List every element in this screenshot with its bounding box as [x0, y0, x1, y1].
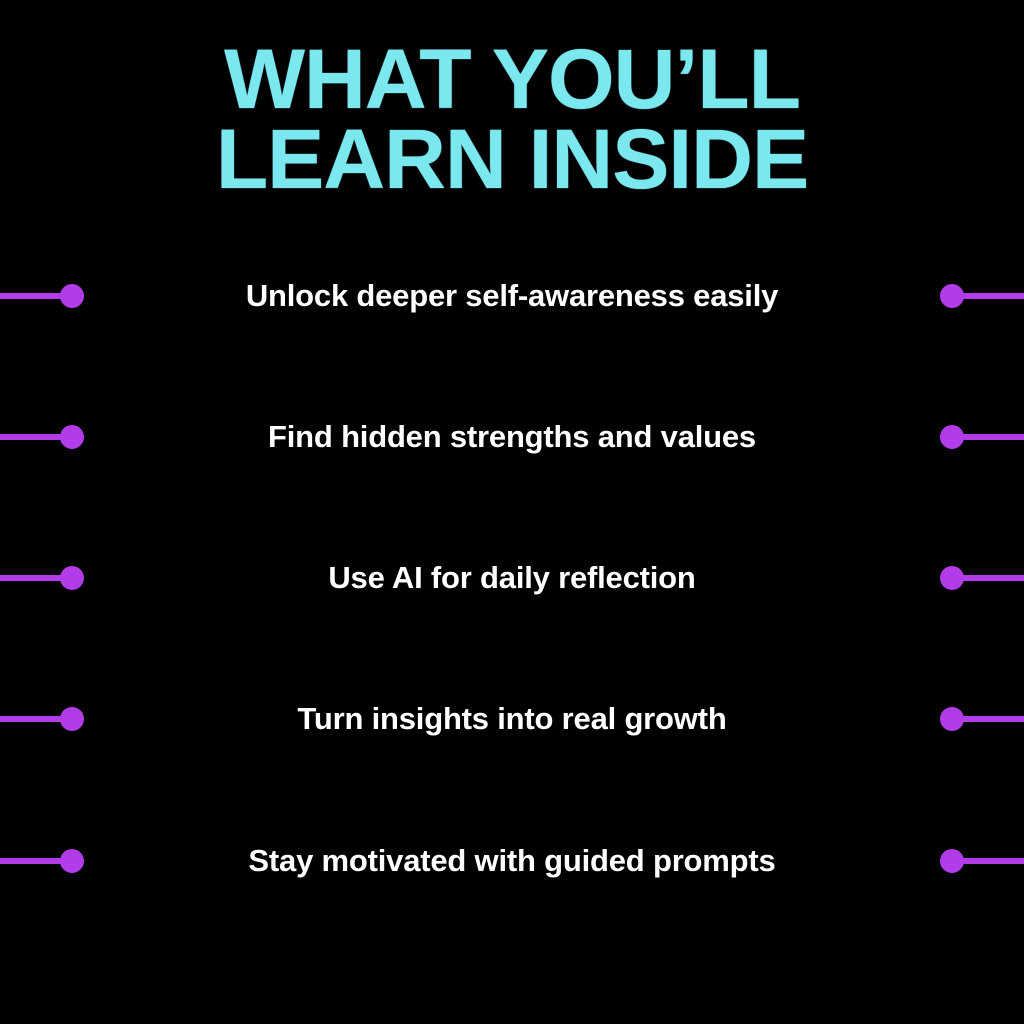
marker-dot [940, 425, 964, 449]
line-dot-marker-icon-left-3 [0, 566, 84, 590]
benefit-label-4: Turn insights into real growth [0, 701, 1024, 737]
list-item: Turn insights into real growth [0, 689, 1024, 749]
marker-line [0, 434, 62, 440]
slide-canvas: WHAT YOU’LL LEARN INSIDE Unlock deeper s… [0, 0, 1024, 1024]
marker-dot [60, 707, 84, 731]
line-dot-marker-icon-left-4 [0, 707, 84, 731]
line-dot-marker-icon-left-1 [0, 284, 84, 308]
marker-line [962, 575, 1024, 581]
marker-dot [940, 284, 964, 308]
page-title-line-2: LEARN INSIDE [0, 120, 1024, 200]
page-title: WHAT YOU’LL LEARN INSIDE [0, 40, 1024, 200]
benefit-label-5: Stay motivated with guided prompts [0, 843, 1024, 879]
line-dot-marker-icon-right-3 [940, 566, 1024, 590]
list-item: Find hidden strengths and values [0, 407, 1024, 467]
list-item: Use AI for daily reflection [0, 548, 1024, 608]
benefit-label-2: Find hidden strengths and values [0, 419, 1024, 455]
line-dot-marker-icon-right-4 [940, 707, 1024, 731]
marker-dot [940, 707, 964, 731]
marker-dot [60, 849, 84, 873]
line-dot-marker-icon-right-2 [940, 425, 1024, 449]
marker-line [0, 293, 62, 299]
marker-dot [60, 425, 84, 449]
marker-dot [940, 849, 964, 873]
marker-dot [60, 566, 84, 590]
benefits-list: Unlock deeper self-awareness easily Find… [0, 226, 1024, 932]
line-dot-marker-icon-left-5 [0, 849, 84, 873]
benefit-label-3: Use AI for daily reflection [0, 560, 1024, 596]
line-dot-marker-icon-right-1 [940, 284, 1024, 308]
page-title-line-1: WHAT YOU’LL [0, 40, 1024, 120]
marker-dot [940, 566, 964, 590]
marker-line [0, 575, 62, 581]
list-item: Stay motivated with guided prompts [0, 831, 1024, 891]
line-dot-marker-icon-left-2 [0, 425, 84, 449]
marker-line [962, 858, 1024, 864]
marker-line [0, 858, 62, 864]
list-item: Unlock deeper self-awareness easily [0, 266, 1024, 326]
marker-line [962, 293, 1024, 299]
marker-line [962, 434, 1024, 440]
line-dot-marker-icon-right-5 [940, 849, 1024, 873]
marker-line [962, 716, 1024, 722]
marker-dot [60, 284, 84, 308]
benefit-label-1: Unlock deeper self-awareness easily [0, 278, 1024, 314]
marker-line [0, 716, 62, 722]
